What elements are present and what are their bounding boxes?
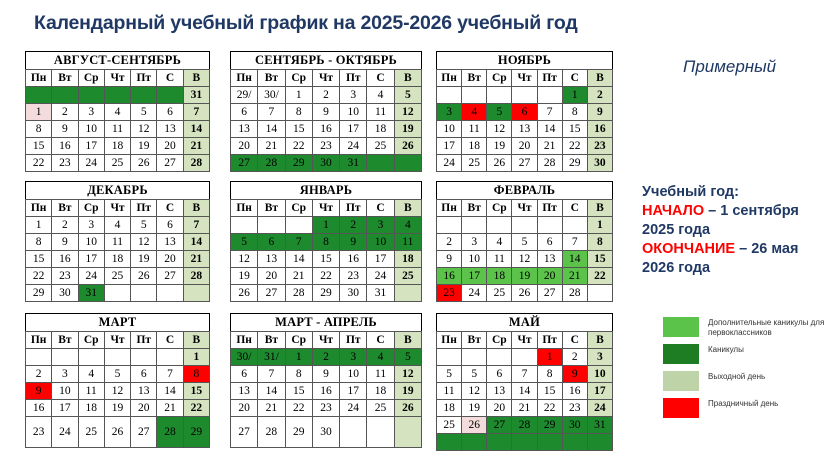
day-cell: 19 (394, 121, 421, 138)
day-cell: 7 (537, 104, 562, 121)
day-cell: 14 (562, 251, 587, 268)
weekday-header-ср: Ср (487, 70, 512, 87)
empty-cell (462, 349, 487, 366)
day-cell: 2 (437, 234, 462, 251)
day-cell: 6 (157, 217, 183, 234)
day-cell: 21 (537, 138, 562, 155)
day-cell: 12 (131, 234, 157, 251)
day-cell: 25 (487, 285, 512, 302)
day-cell: 9 (562, 366, 587, 383)
day-cell: 2 (52, 217, 78, 234)
day-cell: 21 (157, 400, 183, 417)
weekday-header-чт: Чт (104, 200, 130, 217)
legend-item: Праздничный день (662, 397, 828, 419)
day-cell: 23 (312, 400, 339, 417)
day-cell: 22 (537, 400, 562, 417)
day-cell: 8 (285, 366, 312, 383)
day-cell: 24 (52, 417, 78, 448)
weekday-header-вт: Вт (52, 70, 78, 87)
day-cell: 12 (394, 104, 421, 121)
day-cell: 6 (512, 104, 537, 121)
day-cell: 6 (131, 366, 157, 383)
weekday-header-пт: Пт (537, 332, 562, 349)
legend-item: Дополнительные каникулы для первоклассни… (662, 316, 828, 338)
school-year-info: Учебный год: НАЧАЛО – 1 сентября 2025 го… (642, 183, 828, 278)
day-cell: 5 (437, 366, 462, 383)
day-cell: 11 (462, 121, 487, 138)
day-cell: 16 (312, 383, 339, 400)
day-cell: 17 (462, 268, 487, 285)
day-cell: 19 (104, 400, 130, 417)
day-cell: 27 (487, 417, 512, 434)
day-cell: 13 (231, 383, 258, 400)
day-cell: 14 (183, 234, 209, 251)
day-cell: 9 (437, 251, 462, 268)
day-cell: 8 (587, 234, 612, 251)
day-cell: 8 (26, 234, 52, 251)
day-cell: 18 (462, 138, 487, 155)
day-cell: 10 (78, 121, 104, 138)
day-cell: 12 (131, 121, 157, 138)
day-cell: 18 (367, 121, 394, 138)
day-cell: 31 (183, 87, 209, 104)
day-cell: 24 (367, 268, 394, 285)
day-cell: 4 (462, 104, 487, 121)
weekday-header-с: С (562, 332, 587, 349)
month-table: СЕНТЯБРЬ - ОКТЯБРЬПнВтСрЧтПтСВ29/30/1234… (230, 51, 422, 172)
weekday-header-в: В (183, 332, 209, 349)
month-name: МАРТ - АПРЕЛЬ (231, 314, 422, 332)
weekday-header-ср: Ср (285, 200, 312, 217)
day-cell: 25 (394, 268, 421, 285)
day-cell: 8 (562, 104, 587, 121)
month-name: НОЯБРЬ (437, 52, 613, 70)
day-cell: 26 (131, 268, 157, 285)
day-cell: 22 (312, 268, 339, 285)
empty-cell (394, 417, 421, 448)
school-year-heading: Учебный год: (642, 183, 828, 202)
empty-cell (131, 285, 157, 302)
day-cell: 22 (562, 138, 587, 155)
month-table: МАЙПнВтСрЧтПтСВ1235567891011121314151617… (436, 313, 613, 451)
empty-cell (462, 217, 487, 234)
day-cell: 25 (104, 155, 130, 172)
empty-cell (183, 285, 209, 302)
day-cell: 5 (104, 366, 130, 383)
day-cell: 14 (183, 121, 209, 138)
day-cell: 10 (437, 121, 462, 138)
weekday-header-ср: Ср (285, 332, 312, 349)
empty-cell (487, 349, 512, 366)
day-cell: 4 (394, 217, 421, 234)
day-cell: 23 (562, 400, 587, 417)
day-cell: 1 (562, 87, 587, 104)
day-cell: 13 (131, 383, 157, 400)
day-cell: 16 (26, 400, 52, 417)
empty-cell (537, 87, 562, 104)
day-cell: 19 (394, 383, 421, 400)
weekday-header-ср: Ср (487, 332, 512, 349)
day-cell: 30 (340, 285, 367, 302)
day-cell: 3 (437, 104, 462, 121)
day-cell: 24 (437, 155, 462, 172)
day-cell: 14 (537, 121, 562, 138)
day-cell: 9 (340, 234, 367, 251)
day-cell: 11 (367, 104, 394, 121)
legend-swatch (662, 343, 700, 365)
day-cell: 11 (78, 383, 104, 400)
weekday-header-пн: Пн (437, 70, 462, 87)
day-cell: 23 (52, 268, 78, 285)
day-cell: 15 (183, 383, 209, 400)
day-cell: 24 (587, 400, 612, 417)
day-cell: 15 (285, 383, 312, 400)
day-cell: 16 (587, 121, 612, 138)
empty-cell (587, 434, 612, 451)
day-cell: 25 (367, 138, 394, 155)
day-cell: 28 (562, 285, 587, 302)
day-cell: 27 (157, 268, 183, 285)
empty-cell (487, 87, 512, 104)
day-cell: 28 (258, 417, 285, 448)
day-cell: 12 (231, 251, 258, 268)
day-cell: 24 (78, 155, 104, 172)
day-cell: 23 (437, 285, 462, 302)
day-cell: 7 (183, 104, 209, 121)
day-cell: 5 (394, 349, 421, 366)
day-cell: 14 (512, 383, 537, 400)
day-cell: 18 (367, 383, 394, 400)
weekday-header-ср: Ср (78, 70, 104, 87)
weekday-header-вт: Вт (258, 332, 285, 349)
day-cell: 31/ (258, 349, 285, 366)
day-cell: 1 (285, 349, 312, 366)
day-cell: 27 (157, 155, 183, 172)
day-cell: 10 (340, 366, 367, 383)
day-cell: 19 (131, 251, 157, 268)
day-cell: 12 (487, 121, 512, 138)
day-cell: 12 (394, 366, 421, 383)
day-cell: 15 (587, 251, 612, 268)
day-cell: 20 (157, 251, 183, 268)
day-cell: 17 (367, 251, 394, 268)
weekday-header-ср: Ср (78, 332, 104, 349)
day-cell: 30 (52, 285, 78, 302)
empty-cell (104, 285, 130, 302)
day-cell: 11 (104, 234, 130, 251)
day-cell: 9 (312, 104, 339, 121)
empty-cell (26, 349, 52, 366)
weekday-header-вт: Вт (462, 70, 487, 87)
empty-cell (52, 87, 78, 104)
weekday-header-с: С (367, 332, 394, 349)
day-cell: 28 (183, 155, 209, 172)
weekday-header-пн: Пн (231, 70, 258, 87)
day-cell: 19 (231, 268, 258, 285)
weekday-header-с: С (157, 70, 183, 87)
day-cell: 3 (340, 87, 367, 104)
empty-cell (512, 87, 537, 104)
day-cell: 31 (367, 285, 394, 302)
month-name: МАРТ (26, 314, 210, 332)
day-cell: 17 (78, 251, 104, 268)
weekday-header-вт: Вт (52, 332, 78, 349)
weekday-header-в: В (587, 70, 612, 87)
empty-cell (462, 434, 487, 451)
day-cell: 23 (26, 417, 52, 448)
day-cell: 25 (462, 155, 487, 172)
day-cell: 8 (183, 366, 209, 383)
day-cell: 26 (131, 155, 157, 172)
weekday-header-пт: Пт (340, 332, 367, 349)
legend-swatch (662, 397, 700, 419)
empty-cell (231, 217, 258, 234)
day-cell: 7 (512, 366, 537, 383)
weekday-header-в: В (587, 332, 612, 349)
weekday-header-пн: Пн (231, 200, 258, 217)
day-cell: 31 (587, 417, 612, 434)
day-cell: 8 (26, 121, 52, 138)
weekday-header-чт: Чт (512, 332, 537, 349)
empty-cell (487, 217, 512, 234)
empty-cell (258, 217, 285, 234)
weekday-header-в: В (183, 70, 209, 87)
legend-label: Дополнительные каникулы для первоклассни… (708, 316, 828, 337)
legend-swatch (662, 370, 700, 392)
month-name: АВГУСТ-СЕНТЯБРЬ (26, 52, 210, 70)
day-cell: 12 (512, 251, 537, 268)
weekday-header-в: В (394, 200, 421, 217)
empty-cell (562, 217, 587, 234)
day-cell: 27 (131, 417, 157, 448)
day-cell: 26 (104, 417, 130, 448)
month-table: ЯНВАРЬПнВтСрЧтПтСВ1234567891011121314151… (230, 181, 422, 302)
empty-cell (394, 155, 421, 172)
day-cell: 2 (312, 349, 339, 366)
weekday-header-чт: Чт (312, 200, 339, 217)
empty-cell (78, 87, 104, 104)
empty-cell (487, 434, 512, 451)
day-cell: 2 (312, 87, 339, 104)
empty-cell (537, 217, 562, 234)
day-cell: 22 (183, 400, 209, 417)
weekday-header-в: В (183, 200, 209, 217)
day-cell: 3 (78, 104, 104, 121)
day-cell: 10 (52, 383, 78, 400)
day-cell: 31 (78, 285, 104, 302)
day-cell: 21 (512, 400, 537, 417)
empty-cell (437, 434, 462, 451)
month-table: ФЕВРАЛЬПнВтСрЧтПтСВ123456789101112131415… (436, 181, 613, 302)
day-cell: 21 (183, 251, 209, 268)
day-cell: 27 (512, 155, 537, 172)
day-cell: 29 (312, 285, 339, 302)
day-cell: 23 (52, 155, 78, 172)
end-label: ОКОНЧАНИЕ (642, 241, 735, 257)
empty-cell (512, 434, 537, 451)
day-cell: 25 (437, 417, 462, 434)
day-cell: 13 (157, 121, 183, 138)
empty-cell (367, 155, 394, 172)
weekday-header-пн: Пн (26, 200, 52, 217)
day-cell: 10 (587, 366, 612, 383)
weekday-header-пн: Пн (26, 70, 52, 87)
day-cell: 22 (26, 155, 52, 172)
day-cell: 7 (157, 366, 183, 383)
day-cell: 31 (340, 155, 367, 172)
day-cell: 30 (587, 155, 612, 172)
day-cell: 4 (367, 87, 394, 104)
day-cell: 9 (312, 366, 339, 383)
day-cell: 15 (312, 251, 339, 268)
weekday-header-с: С (562, 200, 587, 217)
weekday-header-с: С (367, 70, 394, 87)
school-year-end: ОКОНЧАНИЕ – 26 мая (642, 240, 828, 259)
day-cell: 11 (487, 251, 512, 268)
day-cell: 23 (312, 138, 339, 155)
page-title: Календарный учебный график на 2025-2026 … (34, 12, 578, 35)
month-name: СЕНТЯБРЬ - ОКТЯБРЬ (231, 52, 422, 70)
month-table: ДЕКАБРЬПнВтСрЧтПтСВ123456789101112131415… (25, 181, 210, 302)
legend-item: Каникулы (662, 343, 828, 365)
day-cell: 16 (340, 251, 367, 268)
day-cell: 24 (340, 138, 367, 155)
day-cell: 15 (537, 383, 562, 400)
month-table: МАРТПнВтСрЧтПтСВ123456789101112131415161… (25, 313, 210, 448)
day-cell: 22 (285, 400, 312, 417)
day-cell: 23 (587, 138, 612, 155)
empty-cell (52, 349, 78, 366)
day-cell: 9 (52, 121, 78, 138)
day-cell: 9 (26, 383, 52, 400)
day-cell: 28 (258, 155, 285, 172)
day-cell: 28 (285, 285, 312, 302)
day-cell: 8 (537, 366, 562, 383)
day-cell: 21 (183, 138, 209, 155)
empty-cell (587, 285, 612, 302)
day-cell: 29 (285, 155, 312, 172)
weekday-header-вт: Вт (258, 200, 285, 217)
day-cell: 30/ (231, 349, 258, 366)
day-cell: 26 (394, 400, 421, 417)
day-cell: 26 (487, 155, 512, 172)
day-cell: 27 (258, 285, 285, 302)
weekday-header-в: В (394, 332, 421, 349)
day-cell: 7 (258, 366, 285, 383)
empty-cell (462, 87, 487, 104)
weekday-header-пн: Пн (437, 332, 462, 349)
day-cell: 2 (587, 87, 612, 104)
day-cell: 28 (537, 155, 562, 172)
day-cell: 16 (562, 383, 587, 400)
weekday-header-ср: Ср (78, 200, 104, 217)
weekday-header-чт: Чт (312, 332, 339, 349)
start-text: – 1 сентября (704, 203, 799, 219)
day-cell: 2 (562, 349, 587, 366)
day-cell: 2 (340, 217, 367, 234)
weekday-header-с: С (562, 70, 587, 87)
legend-label: Выходной день (708, 370, 765, 382)
day-cell: 25 (78, 417, 104, 448)
day-cell: 17 (78, 138, 104, 155)
day-cell: 17 (52, 400, 78, 417)
day-cell: 6 (258, 234, 285, 251)
day-cell: 7 (183, 217, 209, 234)
day-cell: 17 (437, 138, 462, 155)
empty-cell (340, 417, 367, 448)
weekday-header-ср: Ср (285, 70, 312, 87)
day-cell: 7 (562, 234, 587, 251)
day-cell: 6 (537, 234, 562, 251)
day-cell: 24 (78, 268, 104, 285)
day-cell: 1 (537, 349, 562, 366)
weekday-header-пн: Пн (26, 332, 52, 349)
day-cell: 20 (537, 268, 562, 285)
weekday-header-вт: Вт (52, 200, 78, 217)
approximate-label: Примерный (683, 57, 776, 77)
day-cell: 13 (487, 383, 512, 400)
day-cell: 1 (587, 217, 612, 234)
day-cell: 29 (183, 417, 209, 448)
day-cell: 18 (104, 251, 130, 268)
day-cell: 15 (562, 121, 587, 138)
day-cell: 2 (26, 366, 52, 383)
empty-cell (394, 285, 421, 302)
day-cell: 5 (462, 366, 487, 383)
empty-cell (285, 217, 312, 234)
weekday-header-вт: Вт (462, 200, 487, 217)
school-year-start: НАЧАЛО – 1 сентября (642, 202, 828, 221)
day-cell: 20 (157, 138, 183, 155)
day-cell: 29 (562, 155, 587, 172)
day-cell: 20 (231, 138, 258, 155)
day-cell: 19 (487, 138, 512, 155)
day-cell: 10 (78, 234, 104, 251)
weekday-header-в: В (394, 70, 421, 87)
day-cell: 6 (487, 366, 512, 383)
day-cell: 10 (340, 104, 367, 121)
day-cell: 18 (394, 251, 421, 268)
day-cell: 23 (340, 268, 367, 285)
day-cell: 20 (512, 138, 537, 155)
weekday-header-чт: Чт (512, 70, 537, 87)
day-cell: 16 (52, 251, 78, 268)
day-cell: 3 (52, 366, 78, 383)
day-cell: 5 (487, 104, 512, 121)
day-cell: 3 (340, 349, 367, 366)
day-cell: 1 (26, 104, 52, 121)
day-cell: 11 (437, 383, 462, 400)
day-cell: 28 (183, 268, 209, 285)
day-cell: 21 (258, 138, 285, 155)
weekday-header-с: С (157, 332, 183, 349)
day-cell: 16 (437, 268, 462, 285)
day-cell: 16 (312, 121, 339, 138)
weekday-header-пт: Пт (537, 200, 562, 217)
day-cell: 13 (537, 251, 562, 268)
day-cell: 7 (258, 104, 285, 121)
calendar-page: Календарный учебный график на 2025-2026 … (0, 0, 828, 456)
month-name: ДЕКАБРЬ (26, 182, 210, 200)
start-label: НАЧАЛО (642, 203, 704, 219)
start-year: 2025 года (642, 221, 828, 240)
day-cell: 18 (78, 400, 104, 417)
day-cell: 26 (394, 138, 421, 155)
weekday-header-чт: Чт (312, 70, 339, 87)
weekday-header-с: С (157, 200, 183, 217)
day-cell: 27 (231, 417, 258, 448)
day-cell: 5 (512, 234, 537, 251)
